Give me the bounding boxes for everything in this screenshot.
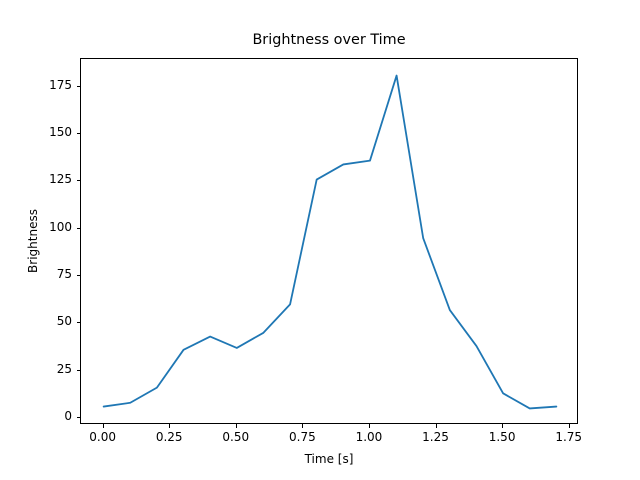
figure-canvas: Brightness over Time 0.000.250.500.751.0… (0, 0, 640, 480)
x-tick-label: 1.50 (472, 430, 532, 444)
chart-title: Brightness over Time (80, 30, 578, 50)
y-tick-mark (77, 275, 81, 276)
y-tick-mark (77, 228, 81, 229)
x-tick-label: 0.75 (272, 430, 332, 444)
x-tick-label: 1.00 (339, 430, 399, 444)
y-tick-mark (77, 370, 81, 371)
line-series-svg (81, 59, 579, 425)
x-tick-label: 0.50 (206, 430, 266, 444)
y-tick-mark (77, 133, 81, 134)
y-tick-mark (77, 86, 81, 87)
x-tick-mark (369, 424, 370, 428)
y-axis-label: Brightness (26, 58, 40, 424)
y-tick-mark (77, 322, 81, 323)
x-tick-label: 0.25 (139, 430, 199, 444)
plot-axes (80, 58, 578, 424)
x-axis-label: Time [s] (80, 452, 578, 466)
x-tick-label: 1.25 (406, 430, 466, 444)
x-tick-mark (169, 424, 170, 428)
x-tick-mark (436, 424, 437, 428)
x-tick-mark (103, 424, 104, 428)
y-tick-mark (77, 417, 81, 418)
x-tick-label: 0.00 (73, 430, 133, 444)
x-tick-mark (569, 424, 570, 428)
brightness-line (104, 76, 557, 409)
x-tick-mark (236, 424, 237, 428)
x-tick-label: 1.75 (539, 430, 599, 444)
x-tick-mark (302, 424, 303, 428)
y-tick-mark (77, 180, 81, 181)
x-tick-mark (502, 424, 503, 428)
